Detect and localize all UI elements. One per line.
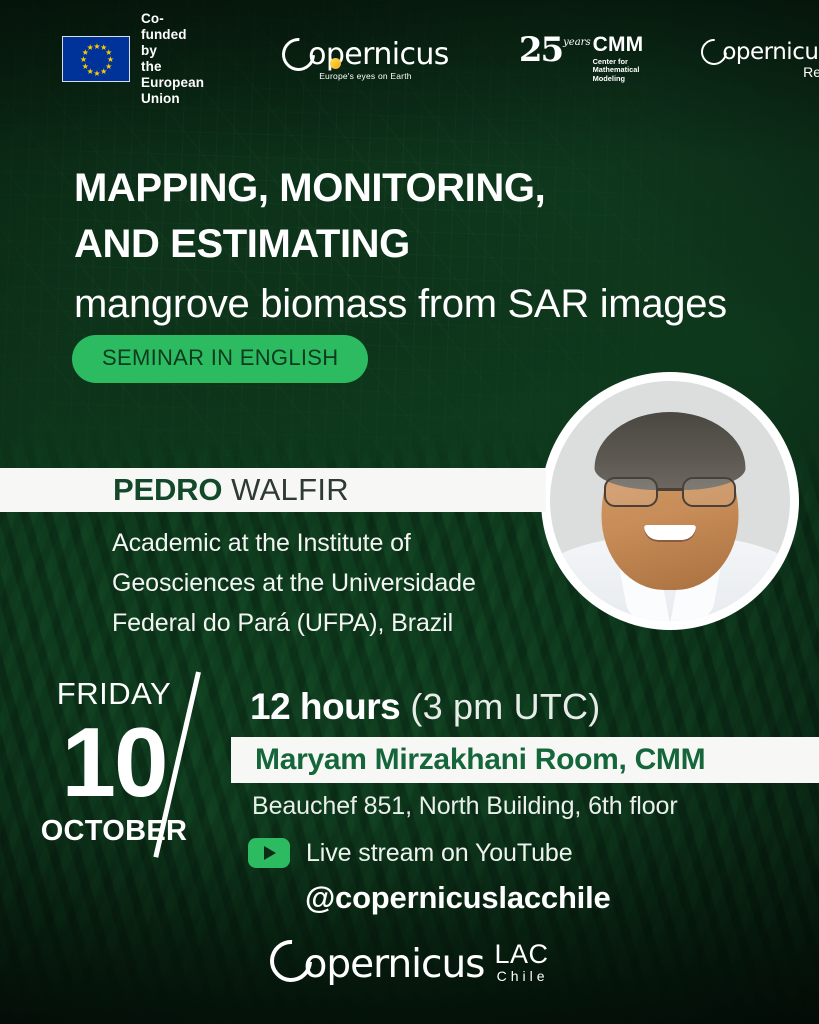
cmm-subtitle: Center for Mathematical Modeling — [593, 58, 644, 84]
event-time-local: 12 hours — [250, 686, 400, 727]
eu-funding-label: Co-funded by the European Union — [141, 11, 204, 107]
copernicus-tagline: Europe's eyes on Earth — [319, 71, 412, 81]
copernicus-sun-dot-icon — [330, 58, 341, 69]
seminar-language-badge: SEMINAR IN ENGLISH — [72, 335, 368, 383]
footer-lac-label: LAC — [494, 941, 548, 968]
copernicus-wordmark: opernicus — [308, 37, 449, 72]
copernicus-lac-chile-logo: opernicus LAC Chile — [0, 940, 819, 987]
speaker-name-banner: PEDRO WALFIR — [0, 468, 546, 512]
portrait-glasses-icon — [604, 477, 736, 507]
copernicus-relays-logo: opernicus i Relays — [701, 39, 819, 80]
copernicus-logo: opernicus Europe's eyes on Earth — [282, 37, 449, 81]
youtube-play-icon[interactable] — [248, 838, 290, 868]
footer-wordmark: opernicus — [303, 942, 484, 987]
relays-wordmark: opernicus — [722, 39, 819, 65]
headline-line-2: AND ESTIMATING — [74, 216, 727, 272]
relays-subtitle: Relays — [803, 64, 819, 80]
eu-funding-logo: ★★★★★★★★★★★★ Co-funded by the European U… — [62, 11, 204, 107]
cmm-anniversary-years: years — [563, 37, 590, 48]
footer-chile-label: Chile — [494, 968, 548, 984]
headline-subtitle: mangrove biomass from SAR images — [74, 276, 727, 332]
eu-star-icon: ★ — [86, 44, 94, 52]
event-address: Beauchef 851, North Building, 6th floor — [252, 792, 678, 821]
event-venue-banner: Maryam Mirzakhani Room, CMM — [231, 737, 819, 783]
event-date-block: FRIDAY 10 OCTOBER — [34, 676, 194, 848]
event-venue: Maryam Mirzakhani Room, CMM — [255, 743, 705, 777]
cmm-anniversary-number: 25 — [519, 35, 562, 65]
headline-block: MAPPING, MONITORING, AND ESTIMATING mang… — [74, 160, 727, 332]
headline-line-1: MAPPING, MONITORING, — [74, 160, 727, 216]
speaker-last-name: WALFIR — [222, 472, 349, 507]
event-month: OCTOBER — [34, 814, 194, 848]
speaker-first-name: PEDRO — [113, 472, 222, 507]
speaker-bio: Academic at the Institute of Geosciences… — [112, 523, 542, 643]
speaker-portrait — [541, 372, 799, 630]
cmm-abbreviation: CMM — [593, 33, 644, 56]
eu-flag-icon: ★★★★★★★★★★★★ — [62, 36, 130, 82]
social-handle[interactable]: @copernicuslacchile — [305, 880, 611, 916]
youtube-stream-row[interactable]: Live stream on YouTube — [248, 838, 573, 868]
portrait-smile — [644, 525, 696, 542]
cmm-logo: 25 years CMM Center for Mathematical Mod… — [519, 35, 644, 84]
event-poster: ★★★★★★★★★★★★ Co-funded by the European U… — [0, 0, 819, 1024]
logo-bar: ★★★★★★★★★★★★ Co-funded by the European U… — [0, 28, 819, 90]
event-time: 12 hours (3 pm UTC) — [250, 686, 600, 728]
event-time-utc: (3 pm UTC) — [400, 686, 600, 727]
event-day-number: 10 — [34, 714, 194, 810]
youtube-stream-label: Live stream on YouTube — [306, 839, 573, 868]
